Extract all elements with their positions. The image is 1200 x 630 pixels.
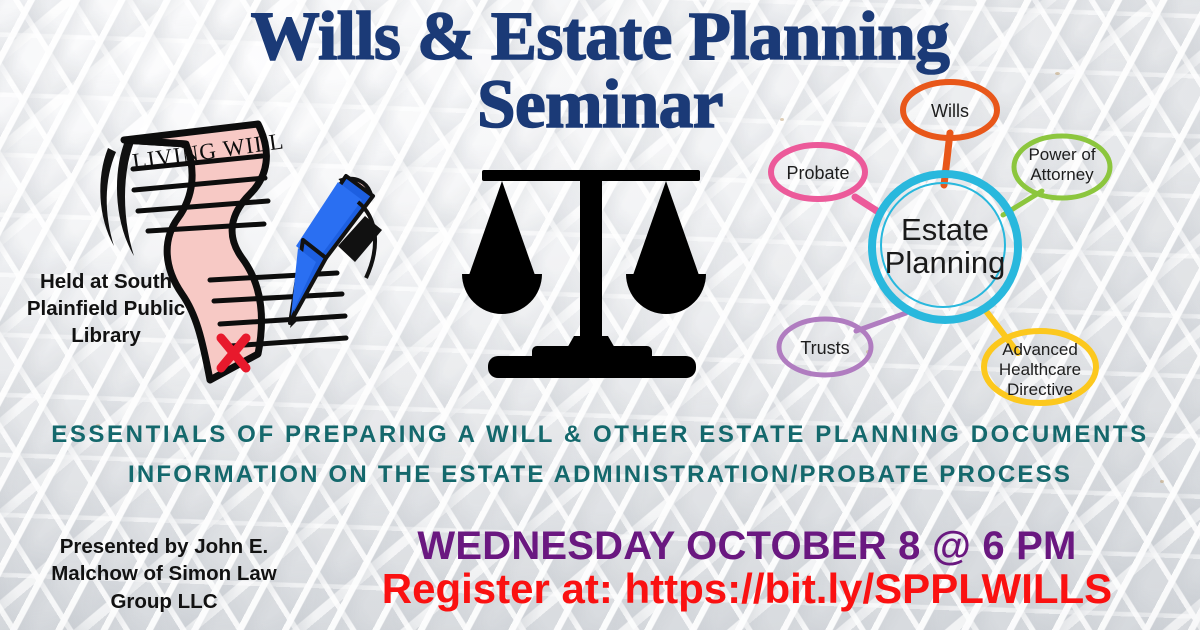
node-label-power-of-attorney-line-2: Attorney	[1030, 165, 1094, 184]
pen-icon	[290, 176, 382, 328]
node-label-probate: Probate	[786, 163, 849, 183]
node-label-trusts: Trusts	[800, 338, 849, 358]
event-datetime: WEDNESDAY OCTOBER 8 @ 6 PM	[300, 526, 1194, 566]
node-label-advanced-healthcare-line-2: Healthcare	[999, 360, 1081, 379]
node-power-of-attorney: Power of Attorney	[1014, 136, 1110, 198]
node-advanced-healthcare-directive: Advanced Healthcare Directive	[984, 331, 1096, 403]
living-will-illustration: LIVING WILL	[90, 118, 400, 398]
center-label-line-1: Estate	[901, 212, 989, 247]
node-label-advanced-healthcare-line-1: Advanced	[1002, 340, 1078, 359]
estate-planning-diagram: Estate Planning Wills Probate Power of A…	[760, 75, 1200, 415]
node-label-power-of-attorney-line-1: Power of	[1028, 145, 1095, 164]
center-node-estate-planning: Estate Planning	[872, 174, 1018, 320]
detail-bullet-1: ESSENTIALS OF PREPARING A WILL & OTHER E…	[0, 420, 1200, 450]
node-probate: Probate	[771, 145, 865, 199]
seminar-poster: Wills & Estate Planning Seminar LIVING W…	[0, 0, 1200, 630]
paper-shadow-swoosh	[100, 138, 134, 256]
node-label-wills: Wills	[931, 101, 969, 121]
connector-probate	[855, 197, 880, 213]
registration-link[interactable]: Register at: https://bit.ly/SPPLWILLS	[300, 568, 1194, 610]
scales-of-justice-icon	[440, 150, 760, 400]
detail-bullet-2: INFORMATION ON THE ESTATE ADMINISTRATION…	[0, 460, 1200, 490]
presenter-note: Presented by John E. Malchow of Simon La…	[24, 533, 304, 615]
node-label-advanced-healthcare-line-3: Directive	[1007, 380, 1073, 399]
center-label-line-2: Planning	[885, 245, 1006, 280]
connector-trusts	[856, 313, 906, 331]
node-trusts: Trusts	[779, 319, 871, 375]
title-line-1: Wills & Estate Planning	[251, 0, 949, 74]
venue-note: Held at South Plainfield Public Library	[8, 268, 204, 349]
session-details: ESSENTIALS OF PREPARING A WILL & OTHER E…	[0, 420, 1200, 490]
